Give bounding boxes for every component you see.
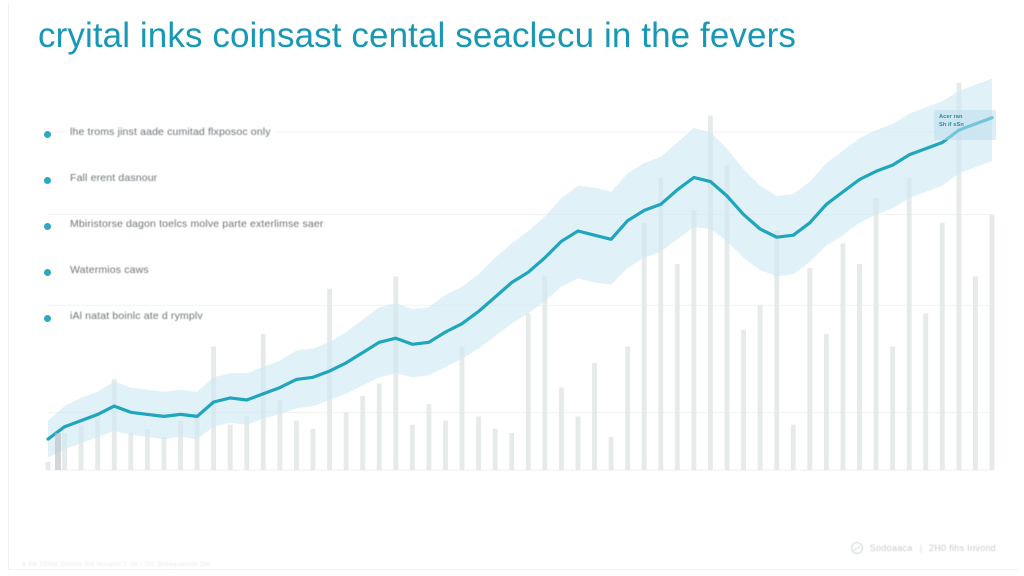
bar xyxy=(990,215,995,470)
bar xyxy=(410,425,415,470)
bullet-text: Fall erent dasnour xyxy=(67,170,160,187)
footer-source: Sodoaaca | 2H0 fihs Invond xyxy=(851,542,996,554)
bar xyxy=(642,223,647,470)
bar xyxy=(228,425,233,470)
footer-separator: | xyxy=(920,543,922,553)
bullet-dot-icon xyxy=(44,269,51,276)
list-item: lhe troms jinst aade cumitad flxposoc on… xyxy=(44,124,464,170)
bar xyxy=(691,210,696,470)
annotation-line-1: Acer ran xyxy=(939,114,992,122)
bullet-text: Watermios caws xyxy=(67,262,152,279)
globe-icon xyxy=(851,542,863,554)
bar xyxy=(311,429,316,470)
bar xyxy=(592,363,597,470)
bar xyxy=(460,346,465,470)
bar xyxy=(344,412,349,470)
footer-meta-label: 2H0 fihs Invond xyxy=(929,543,996,553)
footnote-text: a Sw 2Shtd. Demse fire Noranot 7 .lm t O… xyxy=(22,561,210,568)
annotation-line-2: Sh if sSn xyxy=(939,122,992,130)
bar xyxy=(609,437,614,470)
bar xyxy=(940,223,945,470)
left-edge-marker xyxy=(55,433,61,470)
bar xyxy=(360,396,365,470)
footer-source-label: Sodoaaca xyxy=(870,543,913,553)
bar xyxy=(377,383,382,470)
bullet-dot-icon xyxy=(44,177,51,184)
bar xyxy=(493,429,498,470)
bar xyxy=(161,437,166,470)
list-item: Mbiristorse dagon toelcs molve parte ext… xyxy=(44,216,464,262)
bullet-list: lhe troms jinst aade cumitad flxposoc on… xyxy=(44,124,464,354)
bar xyxy=(625,346,630,470)
bar xyxy=(443,421,448,470)
bar xyxy=(874,198,879,470)
bar xyxy=(559,388,564,470)
bullet-text: lhe troms jinst aade cumitad flxposoc on… xyxy=(67,124,274,141)
bullet-dot-icon xyxy=(44,315,51,322)
bar xyxy=(294,421,299,470)
bar xyxy=(128,433,133,470)
bar xyxy=(576,416,581,470)
bar xyxy=(542,276,547,470)
bullet-text: Mbiristorse dagon toelcs molve parte ext… xyxy=(67,216,326,233)
bar xyxy=(857,264,862,470)
bar xyxy=(890,346,895,470)
bar xyxy=(509,433,514,470)
bullet-dot-icon xyxy=(44,223,51,230)
list-item: iAl natat boinlc ate d rymplv xyxy=(44,308,464,354)
bullet-text: iAl natat boinlc ate d rymplv xyxy=(67,308,206,325)
bar xyxy=(426,404,431,470)
bar xyxy=(791,425,796,470)
chart-annotation-callout: Acer ran Sh if sSn xyxy=(934,110,996,140)
bar xyxy=(675,264,680,470)
list-item: Fall erent dasnour xyxy=(44,170,464,216)
bar xyxy=(907,177,912,470)
bar xyxy=(841,243,846,470)
bar xyxy=(741,330,746,470)
bar xyxy=(807,268,812,470)
list-item: Watermios caws xyxy=(44,262,464,308)
bar xyxy=(476,416,481,470)
bullet-dot-icon xyxy=(44,131,51,138)
bar xyxy=(46,462,51,470)
bar xyxy=(758,305,763,470)
bar xyxy=(923,313,928,470)
bar xyxy=(973,276,978,470)
bar xyxy=(526,313,531,470)
slide-canvas: cryital inks coinsast cental seaclecu in… xyxy=(0,0,1024,576)
bar xyxy=(824,334,829,470)
